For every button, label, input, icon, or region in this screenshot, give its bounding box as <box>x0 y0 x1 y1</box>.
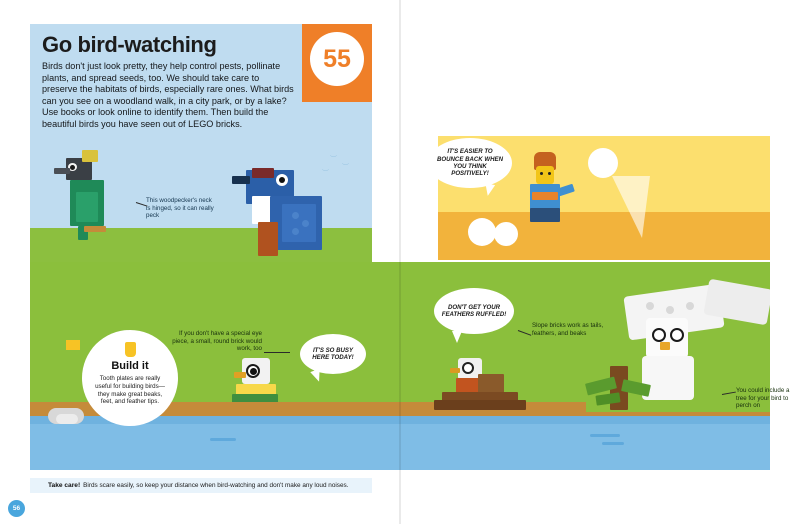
callout-eye-piece: If you don't have a special eye piece, a… <box>170 330 262 353</box>
brown-base-brick <box>226 402 282 412</box>
page-title-left: Go bird-watching <box>42 32 292 58</box>
build-it-callout: Build it Tooth plates are really useful … <box>82 330 178 426</box>
book-spread: Go bird-watching Birds don't just look p… <box>0 0 800 524</box>
bird-silhouette-icon: ︶ <box>322 168 329 178</box>
rock-highlight <box>56 414 78 424</box>
build-it-text: Tooth plates are really useful for build… <box>82 375 178 406</box>
owl-body <box>642 356 694 400</box>
minifig-eye <box>540 172 543 175</box>
perch-branch <box>84 226 106 232</box>
brick-stud <box>686 302 694 310</box>
kingfisher-pupil <box>279 177 285 183</box>
white-bird-beak <box>234 372 246 378</box>
light-beam <box>612 176 650 238</box>
robin-eye <box>462 362 474 374</box>
speech-bubble-bounce-back: IT'S EASIER TO BOUNCE BACK WHEN YOU THIN… <box>428 138 512 188</box>
speech-bubble-text: IT'S SO BUSY HERE TODAY! <box>300 347 366 362</box>
build-it-heading: Build it <box>82 360 178 372</box>
white-ball-sphere <box>494 222 518 246</box>
woodpecker-crest <box>82 150 98 162</box>
woodpecker-beak <box>54 168 70 174</box>
speech-bubble-feathers-ruffled: DON'T GET YOUR FEATHERS RUFFLED! <box>434 288 514 334</box>
white-bird-pupil <box>250 368 257 375</box>
speech-bubble-busy-today: IT'S SO BUSY HERE TODAY! <box>300 334 366 374</box>
brick-stud <box>292 212 299 219</box>
kingfisher-wing <box>282 204 316 242</box>
bubble-tail <box>452 331 462 343</box>
minifig-legs <box>530 208 560 222</box>
water-ripple <box>590 434 620 437</box>
water-ripple <box>602 442 624 445</box>
bird-silhouette-icon: ︶ <box>342 162 349 172</box>
book-spine-seam <box>399 0 401 524</box>
brick-stud <box>292 228 299 235</box>
page-number-left: 56 <box>8 500 25 517</box>
speech-bubble-text: IT'S EASIER TO BOUNCE BACK WHEN YOU THIN… <box>428 148 512 178</box>
bird-silhouette-icon: ︶ <box>330 154 337 164</box>
tooth-plate-piece <box>66 340 80 350</box>
callout-tree-perch: You could include a tree for your bird t… <box>736 387 798 410</box>
white-ball-sphere <box>468 218 496 246</box>
badge-number: 55 <box>323 45 351 74</box>
owl-beak <box>660 342 670 350</box>
leader-line <box>264 352 290 353</box>
minifig-vest <box>532 192 558 200</box>
callout-slope-bricks: Slope bricks work as tails, feathers, an… <box>532 322 606 337</box>
owl-eye <box>652 328 666 342</box>
water-ripple <box>210 438 236 441</box>
minifig-eye <box>548 172 551 175</box>
white-ball-sphere <box>588 148 618 178</box>
brick-stud <box>302 220 309 227</box>
kingfisher-belly <box>258 222 278 256</box>
robin-beak <box>450 368 460 373</box>
minifig-head <box>536 166 554 184</box>
speech-bubble-text: DON'T GET YOUR FEATHERS RUFFLED! <box>434 304 514 319</box>
log-perch-lower <box>434 400 526 410</box>
activity-badge-55: 55 <box>302 24 372 102</box>
intro-text-left: Birds don't just look pretty, they help … <box>42 61 294 131</box>
tooth-plate-icon <box>125 342 136 357</box>
badge-circle: 55 <box>310 32 364 86</box>
callout-woodpecker-neck: This woodpecker's neck is hinged, so it … <box>146 197 216 220</box>
kingfisher-beak <box>232 176 250 184</box>
kingfisher-crown <box>252 168 274 178</box>
owl-eye <box>670 328 684 342</box>
brick-stud <box>646 302 654 310</box>
brick-stud <box>666 306 674 314</box>
take-care-text: Birds scare easily, so keep your distanc… <box>83 482 348 489</box>
take-care-label: Take care! <box>48 482 80 489</box>
take-care-bar: Take care! Birds scare easily, so keep y… <box>30 478 372 493</box>
woodpecker-pupil <box>70 165 75 170</box>
woodpecker-wing <box>76 192 98 222</box>
